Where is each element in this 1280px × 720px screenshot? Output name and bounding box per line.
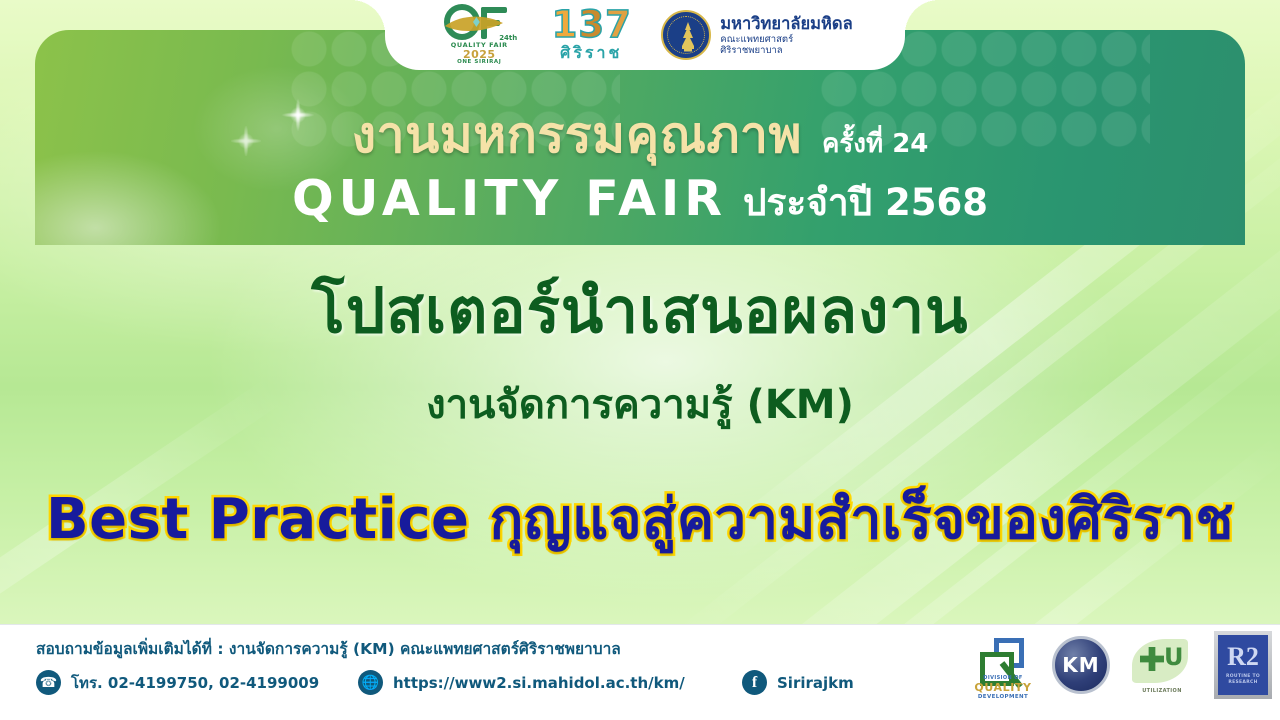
- facebook-icon: f: [742, 670, 767, 695]
- mahidol-faculty-name: คณะแพทยศาสตร์: [720, 34, 852, 45]
- anniversary-digit-7: 7: [605, 6, 631, 43]
- anniversary-digit-3: 3: [578, 6, 604, 43]
- dqd-caption: DIVISION OF QUALITY DEVELOPMENT: [972, 676, 1034, 700]
- banner-subtitle-row: QUALITY FAIR ประจำปี 2568: [0, 170, 1280, 232]
- body-line1-row: โปสเตอร์นำเสนอผลงาน: [0, 262, 1280, 360]
- dqd-caption-line2: QUALITY: [972, 682, 1034, 694]
- r2r-inner-panel: R2 ROUTINE TO RESEARCH: [1218, 635, 1268, 695]
- utilization-letter: U: [1164, 645, 1184, 669]
- footer-website-item[interactable]: 🌐 https://www2.si.mahidol.ac.th/km/: [358, 670, 685, 695]
- body-line2-row: งานจัดการความรู้ (KM): [0, 372, 1280, 436]
- banner-english-title: QUALITY FAIR: [292, 170, 727, 227]
- footer-phone-label: โทร. 02-4199750, 02-4199009: [71, 671, 319, 695]
- globe-icon: 🌐: [358, 670, 383, 695]
- banner-edition-label: ครั้งที่ 24: [822, 123, 928, 164]
- mahidol-crest-icon: [663, 12, 713, 62]
- km-logo: KM: [1052, 636, 1110, 694]
- anniversary-digits: 1 3 7: [539, 3, 643, 43]
- footer-phone-item: ☎ โทร. 02-4199750, 02-4199009: [36, 670, 319, 695]
- footer-website-label[interactable]: https://www2.si.mahidol.ac.th/km/: [393, 674, 685, 692]
- quality-fair-poster: 24th QUALITY FAIR 2025 ONE SIRIRAJ 1 3 7…: [0, 0, 1280, 720]
- anniversary-137-logo: 1 3 7 ศิริราช: [539, 3, 643, 67]
- division-of-quality-development-logo: DIVISION OF QUALITY DEVELOPMENT: [972, 630, 1034, 700]
- utilization-logo: U UTILIZATION: [1128, 635, 1196, 695]
- km-logo-label: KM: [1062, 653, 1099, 677]
- mahidol-seal-icon: [661, 10, 711, 60]
- footer-facebook-label[interactable]: Sirirajkm: [777, 674, 854, 692]
- footer-facebook-item[interactable]: f Sirirajkm: [742, 670, 854, 695]
- banner-title-row: งานมหกรรมคุณภาพ ครั้งที่ 24: [0, 96, 1280, 175]
- anniversary-digit-1: 1: [552, 6, 578, 43]
- body-line2: งานจัดการความรู้ (KM): [426, 382, 854, 428]
- footer-contact-title: สอบถามข้อมูลเพิ่มเติมได้ที่ : งานจัดการค…: [36, 636, 621, 661]
- mahidol-hospital-name: ศิริราชพยาบาล: [720, 45, 852, 56]
- routine-to-research-logo: R2 ROUTINE TO RESEARCH: [1214, 631, 1272, 699]
- header-logo-strip: 24th QUALITY FAIR 2025 ONE SIRIRAJ 1 3 7…: [385, 0, 905, 70]
- utilization-caption: UTILIZATION: [1128, 688, 1196, 694]
- phone-icon: ☎: [36, 670, 61, 695]
- mahidol-university-name: มหาวิทยาลัยมหิดล: [720, 14, 852, 33]
- banner-thai-title: งานมหกรรมคุณภาพ: [352, 96, 802, 175]
- banner-year-label: ประจำปี 2568: [743, 173, 988, 232]
- qf-caption-tagline: ONE SIRIRAJ: [437, 60, 521, 66]
- body-line3-best-practice: Best Practice กุญแจสู่ความสำเร็จของศิริร…: [46, 487, 1234, 552]
- footer-logo-strip: DIVISION OF QUALITY DEVELOPMENT KM U UTI…: [972, 630, 1272, 700]
- mahidol-university-logo: มหาวิทยาลัยมหิดล คณะแพทยศาสตร์ ศิริราชพย…: [661, 10, 852, 60]
- dqd-caption-line3: DEVELOPMENT: [972, 694, 1034, 700]
- qf-caption: QUALITY FAIR 2025 ONE SIRIRAJ: [437, 42, 521, 66]
- r2r-caption: ROUTINE TO RESEARCH: [1218, 674, 1268, 686]
- body-line1: โปสเตอร์นำเสนอผลงาน: [311, 274, 968, 347]
- footer-divider: [0, 624, 1280, 625]
- body-line3-row: Best Practice กุญแจสู่ความสำเร็จของศิริร…: [0, 474, 1280, 563]
- quality-fair-logo: 24th QUALITY FAIR 2025 ONE SIRIRAJ: [437, 4, 521, 66]
- mahidol-text-block: มหาวิทยาลัยมหิดล คณะแพทยศาสตร์ ศิริราชพย…: [720, 14, 852, 56]
- r2r-mark: R2: [1227, 644, 1259, 670]
